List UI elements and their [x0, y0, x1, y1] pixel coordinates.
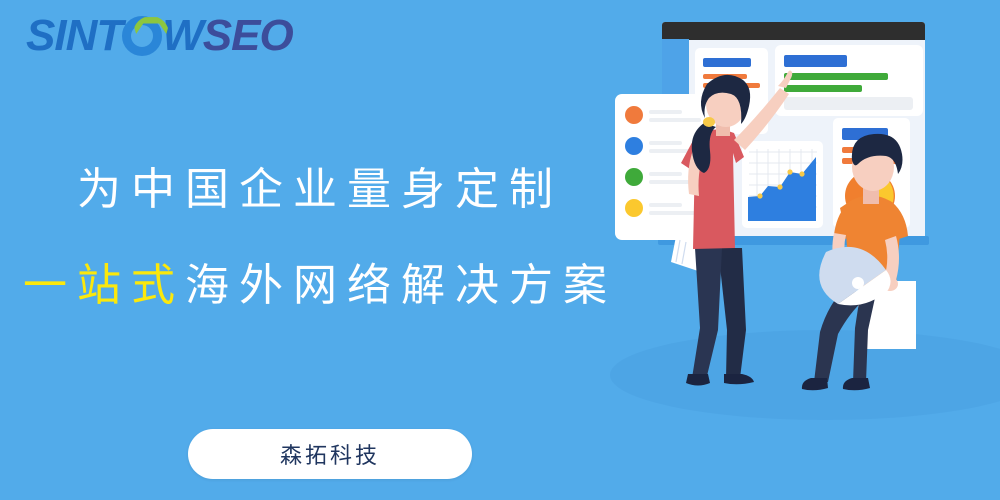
- brand-cta-label: 森拓科技: [280, 438, 380, 470]
- sintowseo-logo[interactable]: SINTWSEO: [26, 14, 293, 58]
- headline-block: 为中国企业量身定制 一站式海外网络解决方案: [0, 168, 640, 308]
- analytics-illustration: [600, 0, 1000, 500]
- logo-ring-icon: [122, 16, 162, 56]
- headline-accent: 一站式: [23, 261, 185, 310]
- logo-text-w: W: [162, 11, 203, 60]
- area-chart-card: [742, 141, 823, 228]
- logo-o-mark: [122, 14, 162, 58]
- headline-line-2-rest: 海外网络解决方案: [185, 261, 617, 310]
- promo-banner: SINTWSEO 为中国企业量身定制 一站式海外网络解决方案 森拓科技: [0, 0, 1000, 500]
- brand-cta-button[interactable]: 森拓科技: [188, 429, 472, 479]
- logo-text-seo: SEO: [203, 11, 293, 60]
- headline-line-2: 一站式海外网络解决方案: [0, 264, 640, 308]
- headline-line-1: 为中国企业量身定制: [0, 168, 640, 212]
- logo-text-sint: SINT: [26, 11, 122, 60]
- progress-card: [775, 45, 923, 116]
